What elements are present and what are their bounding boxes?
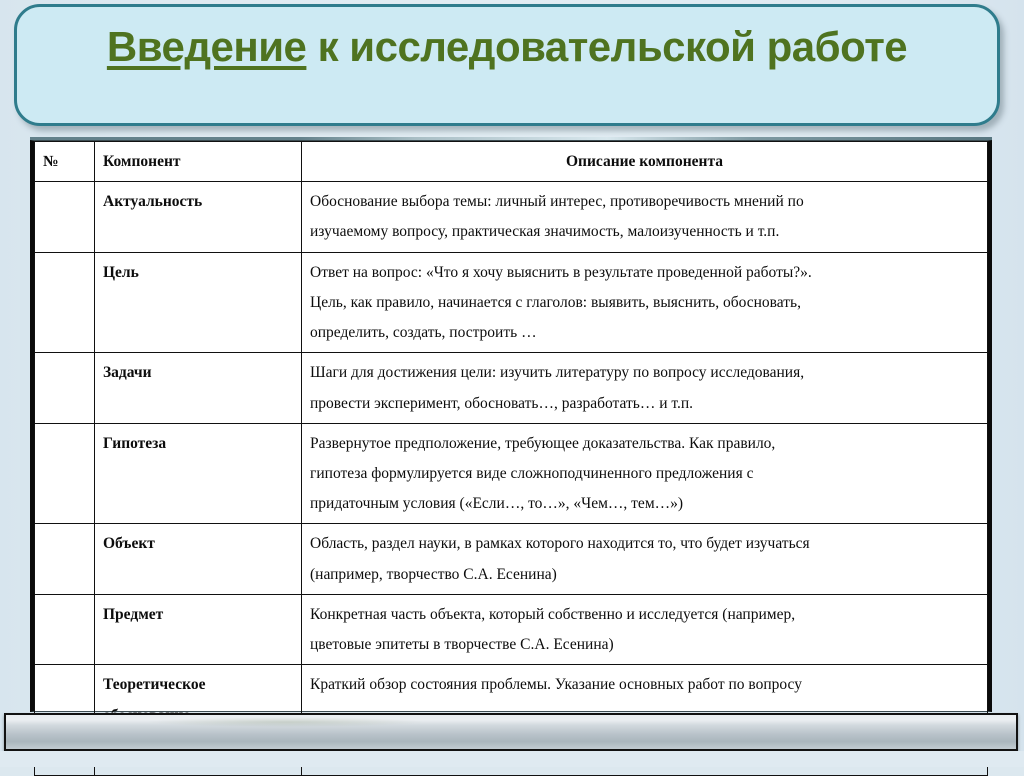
table-row: Актуальность Обоснование выбора темы: ли… xyxy=(35,182,988,252)
table-row: Объект Область, раздел науки, в рамках к… xyxy=(35,524,988,594)
components-table: № Компонент Описание компонента Актуальн… xyxy=(34,141,988,776)
row-description: Развернутое предположение, требующее док… xyxy=(302,423,988,524)
row-desc-line: Ответ на вопрос: «Что я хочу выяснить в … xyxy=(310,258,979,288)
row-name-line: Цель xyxy=(103,258,293,288)
row-desc-line: Шаги для достижения цели: изучить литера… xyxy=(310,358,979,388)
row-name-line: Актуальность xyxy=(103,187,293,217)
row-component-name: Гипотеза xyxy=(95,423,302,524)
column-header-number: № xyxy=(35,142,95,182)
table-row: Гипотеза Развернутое предположение, треб… xyxy=(35,423,988,524)
row-desc-line: Обоснование выбора темы: личный интерес,… xyxy=(310,187,979,217)
row-component-name: Задачи xyxy=(95,353,302,423)
row-desc-line: Конкретная часть объекта, который собств… xyxy=(310,600,979,630)
shelf-base xyxy=(0,751,1024,767)
row-number xyxy=(35,524,95,594)
row-desc-line: провести эксперимент, обосновать…, разра… xyxy=(310,389,979,419)
row-description: Шаги для достижения цели: изучить литера… xyxy=(302,353,988,423)
title-banner: Введение к исследовательской работе xyxy=(14,4,1000,126)
row-desc-line: Краткий обзор состояния проблемы. Указан… xyxy=(310,670,979,700)
row-number xyxy=(35,182,95,252)
row-component-name: Актуальность xyxy=(95,182,302,252)
row-description: Обоснование выбора темы: личный интерес,… xyxy=(302,182,988,252)
row-desc-line: определить, создать, построить … xyxy=(310,318,979,348)
row-desc-line: Развернутое предположение, требующее док… xyxy=(310,429,979,459)
row-component-name: Предмет xyxy=(95,594,302,664)
row-name-line: Объект xyxy=(103,529,293,559)
column-header-description: Описание компонента xyxy=(302,142,988,182)
components-table-container: № Компонент Описание компонента Актуальн… xyxy=(30,140,992,712)
page-title: Введение к исследовательской работе xyxy=(17,23,997,71)
column-header-component: Компонент xyxy=(95,142,302,182)
table-row: Задачи Шаги для достижения цели: изучить… xyxy=(35,353,988,423)
table-row: Предмет Конкретная часть объекта, которы… xyxy=(35,594,988,664)
row-name-line: Гипотеза xyxy=(103,429,293,459)
row-component-name: Объект xyxy=(95,524,302,594)
row-component-name: Цель xyxy=(95,252,302,353)
row-name-line: Теоретическое xyxy=(103,670,293,700)
row-description: Ответ на вопрос: «Что я хочу выяснить в … xyxy=(302,252,988,353)
row-desc-line: изучаемому вопросу, практическая значимо… xyxy=(310,217,979,247)
row-name-line: Задачи xyxy=(103,358,293,388)
row-desc-line: Цель, как правило, начинается с глаголов… xyxy=(310,288,979,318)
row-description: Конкретная часть объекта, который собств… xyxy=(302,594,988,664)
shelf-smudge xyxy=(146,717,426,727)
row-desc-line: цветовые эпитеты в творчестве С.А. Есени… xyxy=(310,630,979,660)
row-number xyxy=(35,252,95,353)
row-desc-line: Область, раздел науки, в рамках которого… xyxy=(310,529,979,559)
row-number xyxy=(35,353,95,423)
bottom-shelf-bar xyxy=(4,713,1018,751)
table-row: Цель Ответ на вопрос: «Что я хочу выясни… xyxy=(35,252,988,353)
row-name-line: Предмет xyxy=(103,600,293,630)
page-title-underlined-part: Введение xyxy=(107,23,307,70)
row-desc-line: (например, творчество С.А. Есенина) xyxy=(310,560,979,590)
table-header-row: № Компонент Описание компонента xyxy=(35,142,988,182)
row-number xyxy=(35,423,95,524)
row-description: Область, раздел науки, в рамках которого… xyxy=(302,524,988,594)
row-number xyxy=(35,594,95,664)
row-desc-line: придаточным условия («Если…, то…», «Чем…… xyxy=(310,489,979,519)
row-desc-line: гипотеза формулируется виде сложноподчин… xyxy=(310,459,979,489)
page-title-rest: к исследовательской работе xyxy=(306,23,907,70)
